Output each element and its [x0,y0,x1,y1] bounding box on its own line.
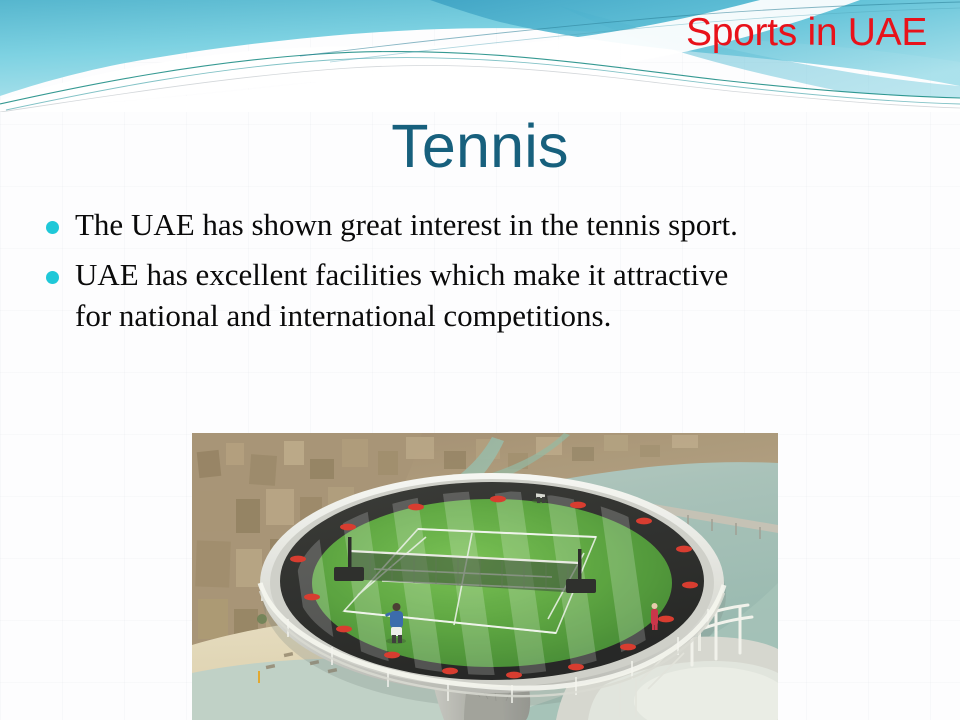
bullet-dot-icon [46,271,59,284]
list-item-label: UAE has excellent facilities which make … [75,255,765,336]
slide-canvas: Sports in UAE Tennis The UAE has shown g… [0,0,960,720]
list-item: UAE has excellent facilities which make … [46,255,876,336]
photo-haze [192,433,778,720]
bullet-list: The UAE has shown great interest in the … [46,205,876,346]
header-title: Sports in UAE [686,13,954,54]
slide-image [192,433,778,720]
page-title: Tennis [0,114,960,180]
list-item: The UAE has shown great interest in the … [46,205,876,245]
bullet-dot-icon [46,221,59,234]
list-item-label: The UAE has shown great interest in the … [75,205,738,245]
